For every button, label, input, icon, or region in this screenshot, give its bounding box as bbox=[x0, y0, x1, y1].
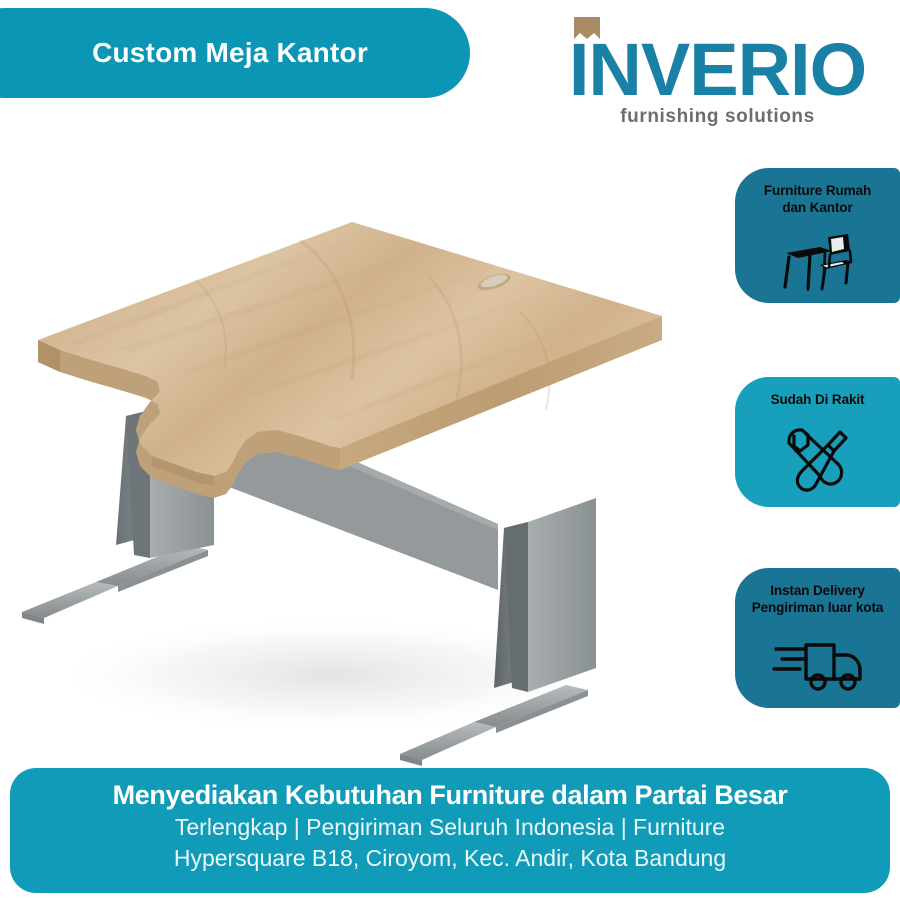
feature-title-3: Instan Delivery Pengiriman luar kota bbox=[746, 582, 890, 616]
footer-line-2: Hypersquare B18, Ciroyom, Kec. Andir, Ko… bbox=[174, 843, 726, 874]
feature-title-2: Sudah Di Rakit bbox=[765, 391, 871, 408]
feature-badge-furniture: Furniture Rumah dan Kantor bbox=[735, 168, 900, 303]
product-image bbox=[0, 130, 740, 770]
header-title-badge: Custom Meja Kantor bbox=[0, 8, 470, 98]
brand-name: INVERIO bbox=[545, 32, 890, 108]
wrench-screwdriver-icon bbox=[782, 412, 854, 507]
school-chair-icon bbox=[780, 220, 856, 303]
office-desk-illustration bbox=[0, 130, 740, 770]
feature-title-3-line2: Pengiriman luar kota bbox=[752, 600, 884, 615]
feature-title-2-line1: Sudah Di Rakit bbox=[771, 392, 865, 407]
product-promo-poster: Custom Meja Kantor INVERIO furnishing so… bbox=[0, 0, 900, 900]
feature-title-3-line1: Instan Delivery bbox=[770, 583, 865, 598]
footer-banner: Menyediakan Kebutuhan Furniture dalam Pa… bbox=[10, 768, 890, 893]
feature-title-1: Furniture Rumah dan Kantor bbox=[758, 182, 877, 216]
footer-headline: Menyediakan Kebutuhan Furniture dalam Pa… bbox=[113, 778, 788, 812]
brand-tagline: furnishing solutions bbox=[545, 106, 890, 128]
feature-title-1-line2: dan Kantor bbox=[782, 200, 852, 215]
delivery-truck-icon bbox=[772, 620, 864, 708]
header-title-text: Custom Meja Kantor bbox=[92, 37, 368, 69]
brand-logo: INVERIO furnishing solutions bbox=[545, 14, 890, 132]
feature-title-1-line1: Furniture Rumah bbox=[764, 183, 871, 198]
feature-badge-delivery: Instan Delivery Pengiriman luar kota bbox=[735, 568, 900, 708]
footer-line-1: Terlengkap | Pengiriman Seluruh Indonesi… bbox=[175, 812, 725, 843]
feature-badge-assembled: Sudah Di Rakit bbox=[735, 377, 900, 507]
